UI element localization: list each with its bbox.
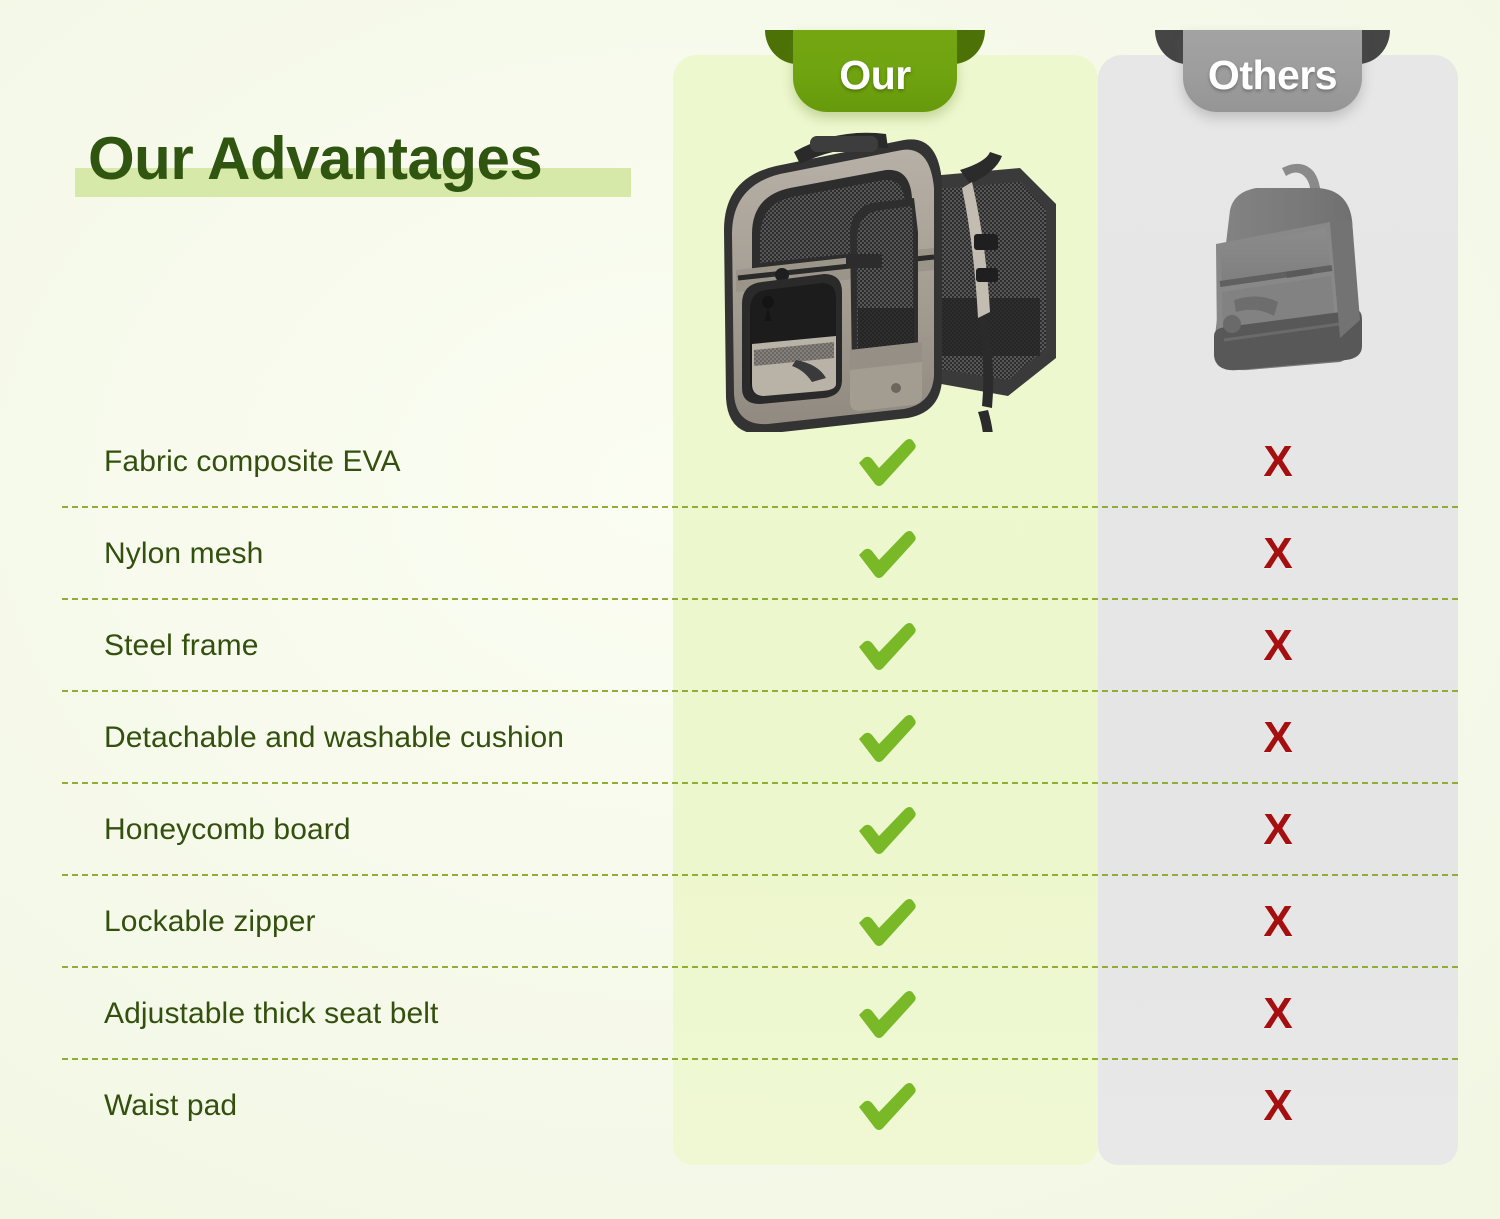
others-mark-cell: X [1098,968,1458,1060]
our-mark-cell [673,600,1098,692]
check-icon [855,529,917,579]
others-mark-cell: X [1098,508,1458,600]
table-row: Fabric composite EVAX [0,416,1500,508]
others-mark-cell: X [1098,600,1458,692]
table-row: Nylon meshX [0,508,1500,600]
feature-label: Steel frame [104,600,259,692]
page-title: Our Advantages [88,120,542,198]
cross-icon: X [1263,1084,1292,1128]
feature-label: Detachable and washable cushion [104,692,564,784]
check-icon [855,437,917,487]
cross-icon: X [1263,900,1292,944]
table-row: Adjustable thick seat beltX [0,968,1500,1060]
others-column-label: Others [1208,47,1337,96]
cross-icon: X [1263,532,1292,576]
our-column-header: Our [765,30,985,112]
others-mark-cell: X [1098,416,1458,508]
others-mark-cell: X [1098,1060,1458,1152]
cross-icon: X [1263,808,1292,852]
ribbon-tail-right [1358,30,1390,64]
others-column-header: Others [1155,30,1390,112]
others-mark-cell: X [1098,876,1458,968]
feature-label: Lockable zipper [104,876,316,968]
table-row: Steel frameX [0,600,1500,692]
check-icon [855,713,917,763]
check-icon [855,805,917,855]
cross-icon: X [1263,992,1292,1036]
comparison-chart-page: Our Advantages [0,0,1500,1219]
our-mark-cell [673,508,1098,600]
feature-label: Adjustable thick seat belt [104,968,438,1060]
table-row: Detachable and washable cushionX [0,692,1500,784]
our-mark-cell [673,416,1098,508]
table-row: Lockable zipperX [0,876,1500,968]
others-product-image [1190,160,1410,390]
cross-icon: X [1263,624,1292,668]
our-mark-cell [673,876,1098,968]
ribbon-tail-right [953,30,985,64]
cross-icon: X [1263,716,1292,760]
others-mark-cell: X [1098,692,1458,784]
check-icon [855,1081,917,1131]
our-column-label: Our [839,47,910,96]
comparison-rows: Fabric composite EVAXNylon meshXSteel fr… [0,416,1500,1152]
check-icon [855,621,917,671]
our-product-image [690,112,1090,432]
page-title-group: Our Advantages [88,120,542,200]
our-mark-cell [673,692,1098,784]
feature-label: Nylon mesh [104,508,263,600]
table-row: Waist padX [0,1060,1500,1152]
feature-label: Waist pad [104,1060,237,1152]
feature-label: Fabric composite EVA [104,416,401,508]
check-icon [855,989,917,1039]
feature-label: Honeycomb board [104,784,351,876]
our-mark-cell [673,1060,1098,1152]
cross-icon: X [1263,440,1292,484]
others-mark-cell: X [1098,784,1458,876]
our-mark-cell [673,968,1098,1060]
check-icon [855,897,917,947]
table-row: Honeycomb boardX [0,784,1500,876]
our-mark-cell [673,784,1098,876]
